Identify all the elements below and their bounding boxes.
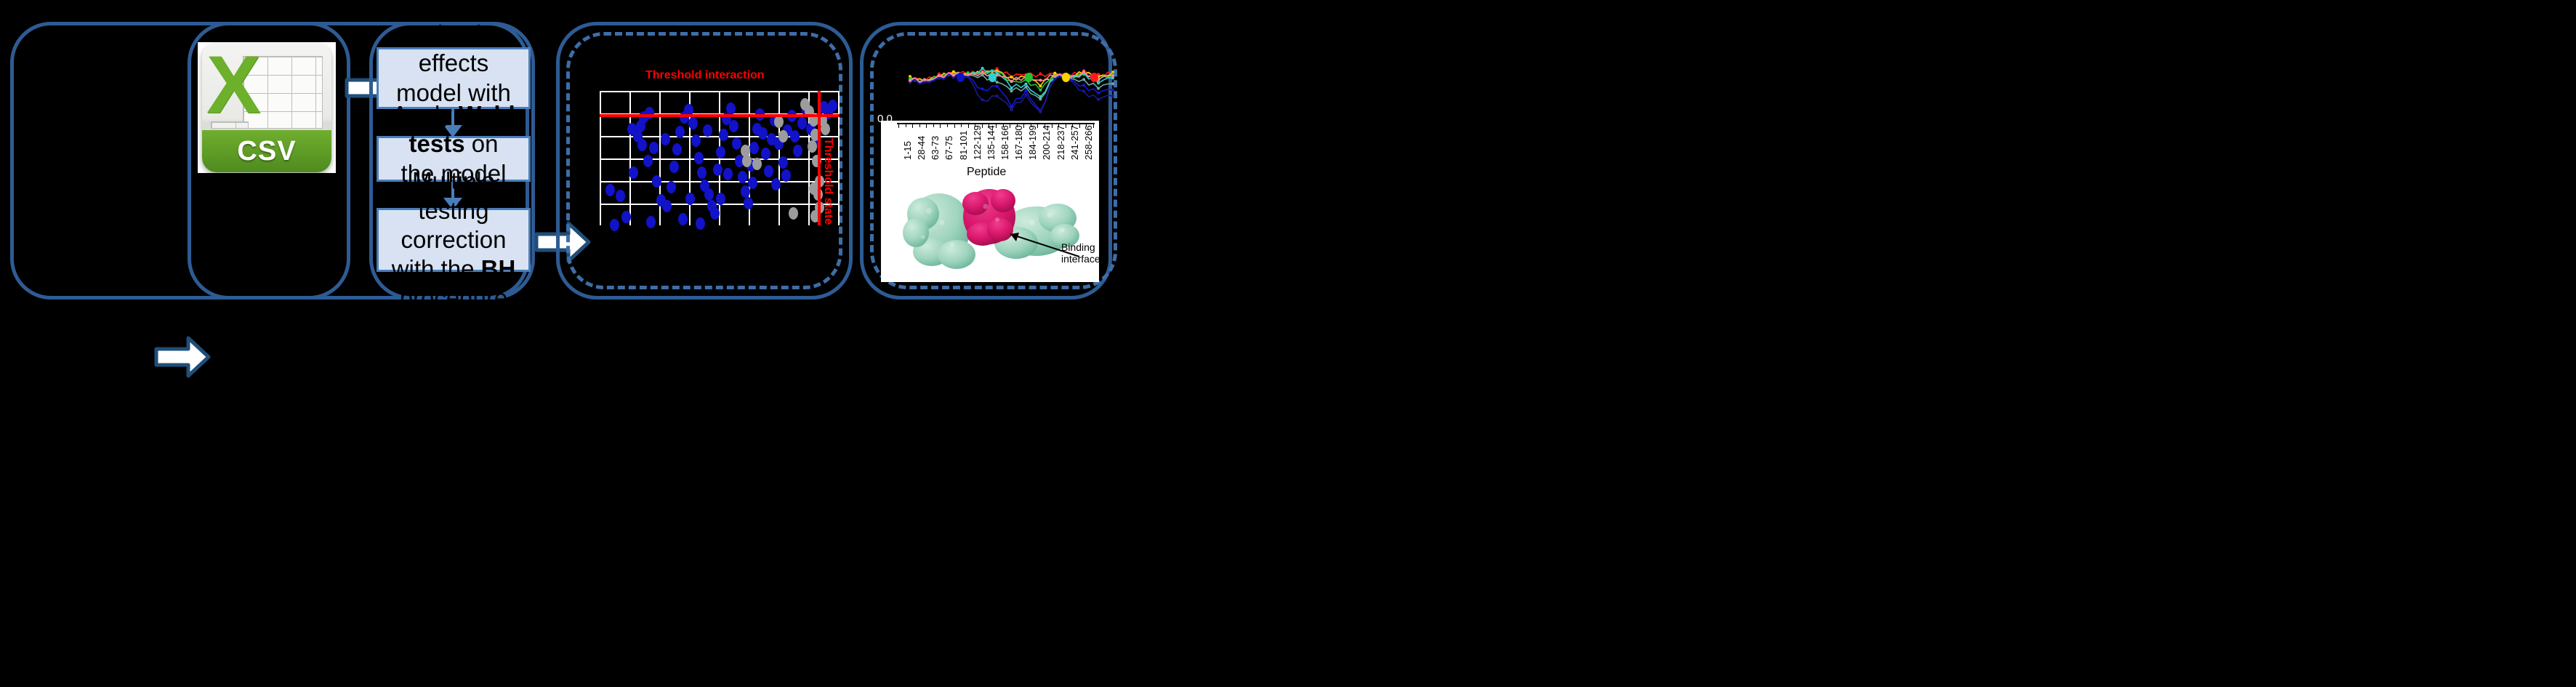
chart-marker [1053, 72, 1056, 75]
chart-marker [1097, 92, 1100, 95]
chart-marker [1010, 108, 1013, 111]
chart-marker [1024, 86, 1027, 89]
peptide-tick-label: 241-257 [1069, 125, 1080, 160]
peptide-minor-tick [906, 124, 906, 127]
peptide-tick-label: 63-73 [930, 136, 941, 160]
chart-marker [938, 74, 941, 77]
chart-marker [1111, 95, 1114, 97]
peptide-tick-label: 28-44 [916, 136, 927, 160]
peptide-minor-tick [961, 124, 962, 127]
chart-marker [923, 79, 926, 81]
peptide-tick-label: 258-266 [1083, 125, 1094, 160]
chart-marker [1082, 84, 1085, 87]
chart-marker [981, 73, 984, 76]
chart-marker [996, 95, 999, 97]
peptide-tick [954, 124, 955, 128]
chart-marker [1082, 78, 1085, 81]
peptide-minor-tick [933, 124, 934, 127]
chart-marker [1024, 83, 1027, 86]
protein-surface-figure [894, 182, 1083, 276]
chart-marker [1010, 76, 1013, 79]
excel-x-glyph: X [206, 44, 261, 126]
peptide-tick-label: 218-237 [1055, 125, 1066, 160]
peptide-minor-tick [947, 124, 948, 127]
binding-interface-line2: interface [1061, 253, 1100, 265]
peptide-tick-label: 158-166 [999, 125, 1010, 160]
csv-format-band: CSV [202, 130, 331, 172]
chart-marker [1039, 72, 1042, 75]
flow-step-multiple-testing-text: Multiple testing correction with the BH … [385, 166, 523, 313]
csv-file-icon: X CSV [202, 43, 331, 172]
chart-marker [1039, 79, 1042, 81]
chart-marker [981, 67, 984, 70]
flow-step-multiple-testing: Multiple testing correction with the BH … [377, 208, 531, 272]
chart-marker [981, 87, 984, 90]
chart-marker [1097, 98, 1100, 101]
chart-marker [1097, 87, 1100, 90]
csv-format-label: CSV [237, 136, 296, 167]
peptide-tick-label: 122-129 [972, 125, 983, 160]
chart-marker [1111, 82, 1114, 85]
chart-marker [1039, 97, 1042, 100]
chart-marker [1039, 111, 1042, 113]
peptide-results-panel: 1-1528-4463-7367-7581-101122-129135-1441… [881, 121, 1099, 282]
chart-marker [1111, 89, 1114, 92]
chart-marker [1010, 80, 1013, 83]
peptide-line-chart [895, 58, 1117, 120]
chart-marker [967, 73, 970, 76]
legend-dot-5 [1090, 73, 1098, 82]
peptide-tick-label: 81-101 [958, 131, 969, 160]
chart-marker [909, 79, 911, 82]
chart-marker [996, 85, 999, 88]
chart-marker [981, 71, 984, 73]
peptide-tick-label: 1-15 [902, 141, 913, 160]
peptide-tick [940, 124, 941, 128]
pipeline-diagram: X CSV Fit a linear mixed- effects model … [0, 0, 2576, 687]
peptide-tick-label: 167-180 [1013, 125, 1024, 160]
binding-interface-line1: Binding [1061, 241, 1100, 253]
scatter-threshold-state-label: Threshold state [821, 138, 834, 225]
peptide-tick [926, 124, 927, 128]
chart-marker [952, 74, 955, 77]
scatter-threshold-interaction-label: Threshold interaction [645, 69, 765, 82]
peptide-line-chart-svg [895, 58, 1117, 120]
peptide-tick-label: 67-75 [943, 136, 954, 160]
chart-marker [1024, 89, 1027, 92]
peptide-tick-label: 135-144 [986, 125, 997, 160]
chart-marker [1039, 89, 1042, 92]
chart-marker [996, 71, 999, 74]
peptide-minor-tick [919, 124, 920, 127]
chart-marker [1039, 84, 1042, 87]
chart-marker [1010, 87, 1013, 89]
peptide-tick [912, 124, 913, 128]
chart-marker [1024, 94, 1027, 97]
chart-marker [1082, 90, 1085, 93]
scatter-plot [600, 91, 840, 225]
protein-surface-svg [894, 182, 1083, 276]
chart-marker [1053, 78, 1056, 81]
chart-marker [1082, 71, 1085, 73]
scatter-plot-canvas [600, 91, 840, 225]
chart-marker [981, 98, 984, 101]
chart-marker [1097, 81, 1100, 84]
threshold-interaction-line [600, 114, 840, 117]
arrow-input-to-data [154, 334, 211, 379]
legend-dot-4 [1062, 73, 1070, 82]
binding-interface-annotation: Binding interface [1061, 241, 1100, 265]
chart-marker [1111, 74, 1114, 77]
legend-dot-1 [957, 73, 965, 82]
peptide-tick-label: 277-284 [1097, 125, 1108, 160]
legend-dot-3 [1025, 73, 1033, 82]
threshold-state-line [818, 91, 821, 225]
peptide-tick [898, 124, 899, 128]
csv-file-card: X CSV [198, 42, 336, 173]
peptide-tick-label: 184-199 [1027, 125, 1038, 160]
peptide-tick-label: 200-214 [1041, 125, 1052, 160]
chart-marker [952, 71, 955, 73]
chart-marker [996, 81, 999, 84]
chart-marker [1053, 75, 1056, 78]
peptide-tick [968, 124, 969, 128]
chart-marker [1010, 89, 1013, 92]
peptide-axis-title: Peptide [967, 166, 1006, 179]
legend-dot-2 [989, 73, 997, 82]
